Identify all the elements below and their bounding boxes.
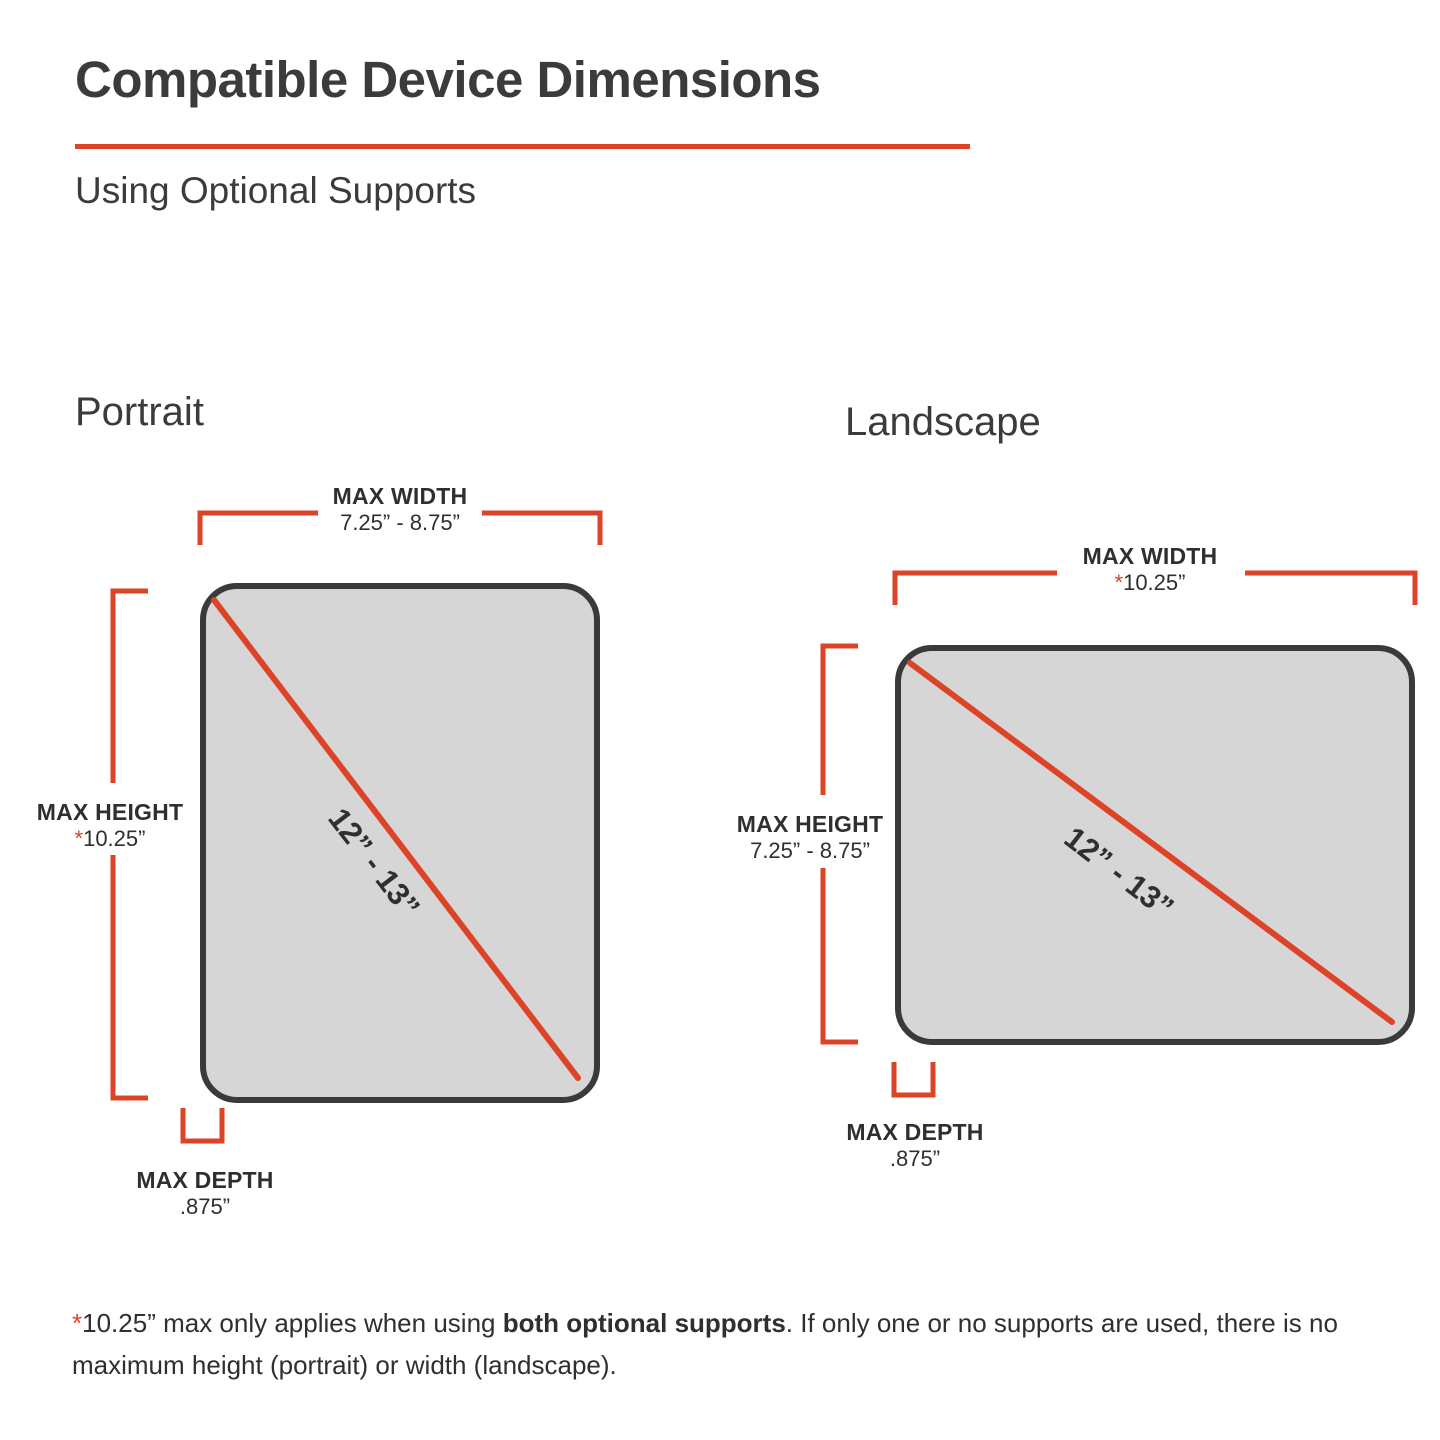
portrait-max-depth-value: .875”: [115, 1194, 295, 1221]
landscape-max-height-value: 7.25” - 8.75”: [715, 838, 905, 865]
landscape-max-width-asterisk: *: [1115, 570, 1124, 595]
portrait-max-width-label: MAX WIDTH 7.25” - 8.75”: [310, 484, 490, 537]
landscape-max-width-bracket-right: [1245, 573, 1415, 605]
portrait-max-height-label: MAX HEIGHT *10.25”: [20, 800, 200, 853]
landscape-max-depth-value: .875”: [825, 1146, 1005, 1173]
portrait-max-height-number: 10.25”: [83, 826, 145, 851]
landscape-max-depth-label: MAX DEPTH .875”: [825, 1120, 1005, 1173]
portrait-max-height-title: MAX HEIGHT: [20, 800, 200, 826]
footnote-text-part1: 10.25” max only applies when using: [82, 1308, 503, 1338]
device-dimensions-diagram: Compatible Device Dimensions Using Optio…: [0, 0, 1440, 1440]
landscape-max-height-label: MAX HEIGHT 7.25” - 8.75”: [715, 812, 905, 865]
diagram-artwork: [0, 0, 1440, 1440]
landscape-max-depth-title: MAX DEPTH: [825, 1120, 1005, 1146]
portrait-max-height-bracket-bottom: [113, 855, 148, 1098]
landscape-max-height-bracket-bottom: [823, 868, 858, 1042]
portrait-max-width-bracket-left: [200, 513, 318, 545]
portrait-max-height-bracket-top: [113, 591, 148, 783]
landscape-max-width-bracket-left: [895, 573, 1057, 605]
landscape-max-height-bracket-top: [823, 646, 858, 795]
portrait-max-height-asterisk: *: [75, 826, 84, 851]
landscape-max-width-number: 10.25”: [1123, 570, 1185, 595]
portrait-max-depth-label: MAX DEPTH .875”: [115, 1168, 295, 1221]
portrait-max-width-bracket-right: [482, 513, 600, 545]
landscape-max-depth-bracket: [894, 1062, 933, 1095]
landscape-max-width-label: MAX WIDTH *10.25”: [1060, 544, 1240, 597]
footnote: *10.25” max only applies when using both…: [72, 1302, 1402, 1386]
portrait-max-width-value: 7.25” - 8.75”: [310, 510, 490, 537]
portrait-max-height-value: *10.25”: [20, 826, 200, 853]
landscape-max-width-title: MAX WIDTH: [1060, 544, 1240, 570]
landscape-max-width-value: *10.25”: [1060, 570, 1240, 597]
portrait-max-width-title: MAX WIDTH: [310, 484, 490, 510]
portrait-max-depth-bracket: [183, 1108, 222, 1141]
portrait-max-depth-title: MAX DEPTH: [115, 1168, 295, 1194]
landscape-max-height-title: MAX HEIGHT: [715, 812, 905, 838]
footnote-bold-text: both optional supports: [503, 1308, 786, 1338]
footnote-asterisk: *: [72, 1308, 82, 1338]
